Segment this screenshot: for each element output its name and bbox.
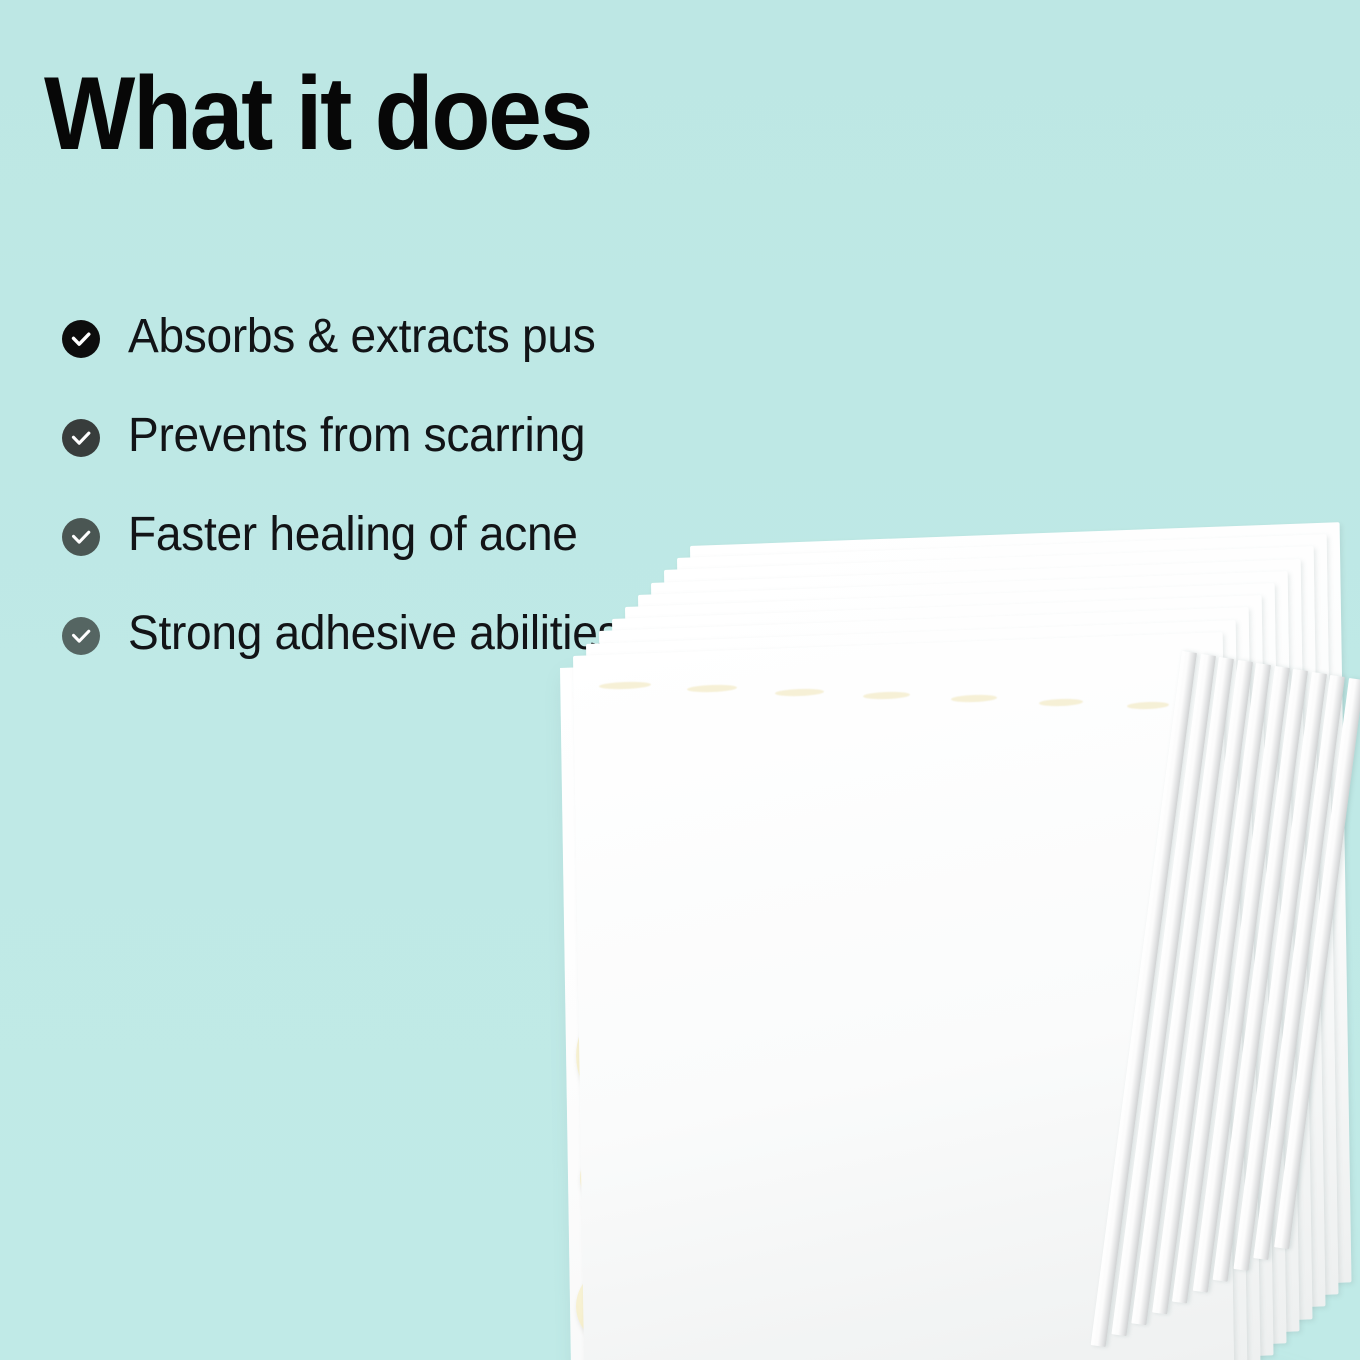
list-item: Absorbs & extracts pus (58, 312, 818, 411)
product-photo-acne-patch-sheets (520, 540, 1360, 1360)
page-title: What it does (44, 62, 591, 166)
product-feature-card: What it does Absorbs & extracts pus Prev… (0, 0, 1360, 1360)
benefit-label: Faster healing of acne (128, 503, 578, 567)
benefit-label: Prevents from scarring (128, 404, 585, 468)
check-circle-icon (62, 518, 100, 556)
check-circle-icon (62, 617, 100, 655)
check-circle-icon (62, 419, 100, 457)
benefit-label: Absorbs & extracts pus (128, 305, 595, 369)
check-circle-icon (62, 320, 100, 358)
list-item: Prevents from scarring (58, 411, 818, 510)
